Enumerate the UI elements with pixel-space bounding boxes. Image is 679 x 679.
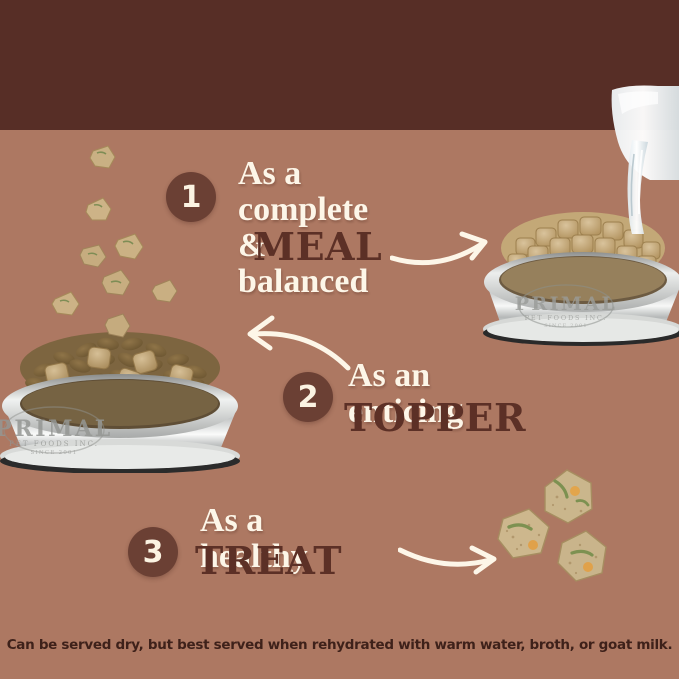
bowl-subbrand-label: PET FOODS INC. [9, 440, 99, 448]
step-2-emphasis: TOPPER [344, 398, 526, 438]
falling-nugget [88, 143, 118, 176]
water-pitcher-icon [598, 84, 679, 234]
bowl-brand-label: PRIMAL [515, 293, 618, 315]
step-3-badge: 3 [128, 527, 178, 577]
curved-arrow-right-icon [390, 220, 500, 273]
step-1-emphasis: MEAL [253, 227, 382, 267]
falling-nugget [151, 278, 179, 310]
bowl-tagline-label: SINCE 2001 [544, 323, 588, 329]
step-1-badge: 1 [166, 172, 216, 222]
falling-nugget [113, 232, 145, 267]
falling-nugget [103, 312, 133, 345]
bowl-tagline-label: SINCE 2001 [30, 450, 77, 456]
bowl-subbrand-label: PET FOODS INC. [525, 314, 608, 322]
bowl-brand-label: PRIMAL [0, 416, 113, 442]
step-3-emphasis: TREAT [195, 541, 342, 581]
falling-nugget [100, 268, 132, 303]
curved-arrow-left-icon [236, 312, 354, 379]
header-band [0, 0, 679, 130]
footer-note: Can be served dry, but best served when … [0, 637, 679, 653]
step-2-badge: 2 [283, 372, 333, 422]
treat-nugget [552, 527, 612, 590]
curved-arrow-right-icon [398, 538, 506, 587]
falling-nugget [84, 196, 114, 229]
infographic-canvas: PRIMAL PET FOODS INC. SINCE 2001 [0, 0, 679, 679]
falling-nugget [51, 290, 81, 323]
treat-nugget [537, 467, 599, 532]
